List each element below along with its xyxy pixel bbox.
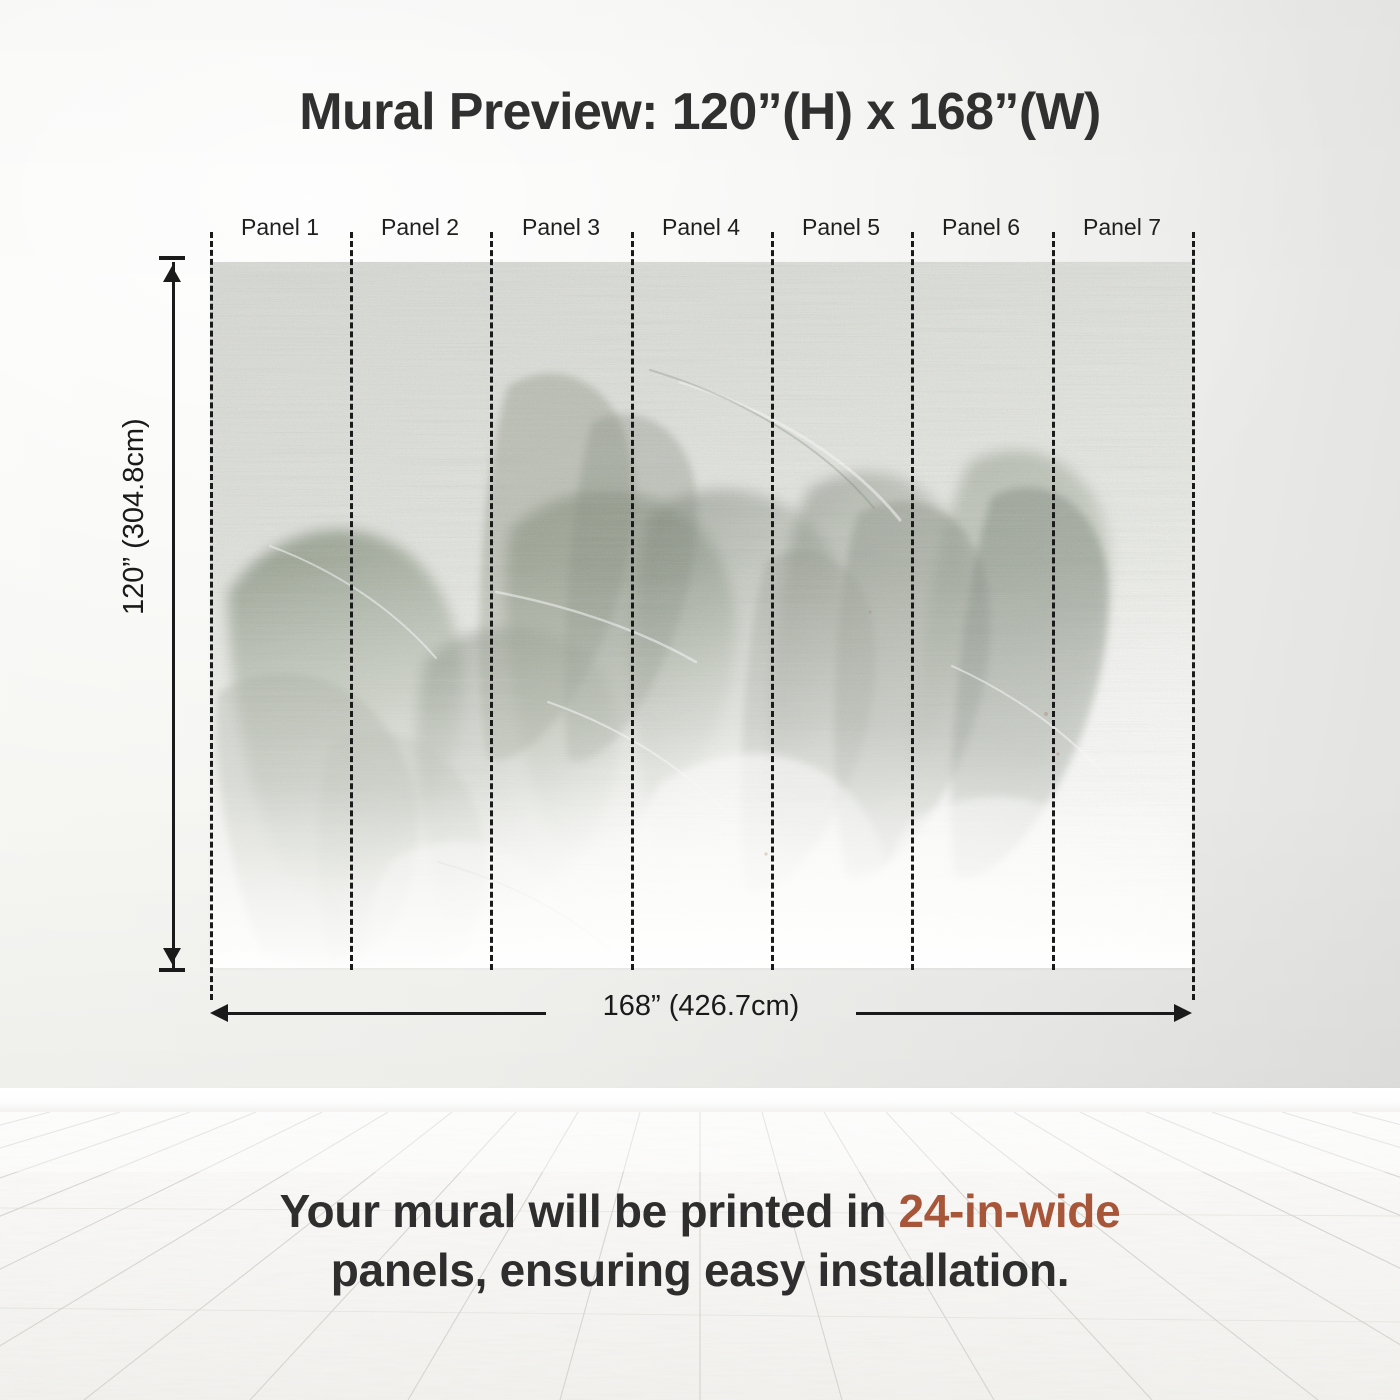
mural-artwork bbox=[210, 262, 1192, 968]
height-cap-bottom bbox=[159, 968, 185, 972]
caption-line-1: Your mural will be printed in 24-in-wide bbox=[0, 1182, 1400, 1241]
arrow-down-icon bbox=[163, 948, 181, 964]
mural-right-edge bbox=[1192, 232, 1195, 1000]
width-dimension-line-left bbox=[226, 1012, 546, 1015]
arrow-left-icon bbox=[210, 1004, 228, 1022]
baseboard bbox=[0, 1088, 1400, 1114]
width-dimension-line-right bbox=[856, 1012, 1176, 1015]
panel-label-2: Panel 2 bbox=[381, 214, 459, 241]
height-cap-top bbox=[159, 256, 185, 260]
arrow-right-icon bbox=[1174, 1004, 1192, 1022]
caption-line-2: panels, ensuring easy installation. bbox=[0, 1241, 1400, 1300]
height-dimension-line bbox=[172, 262, 175, 968]
caption-accent-text: 24-in-wide bbox=[898, 1185, 1120, 1237]
panel-label-6: Panel 6 bbox=[942, 214, 1020, 241]
panel-label-4: Panel 4 bbox=[662, 214, 740, 241]
panel-divider-5 bbox=[911, 232, 914, 970]
width-dimension-label: 168” (426.7cm) bbox=[587, 990, 816, 1023]
panel-divider-2 bbox=[490, 232, 493, 970]
panel-divider-6 bbox=[1052, 232, 1055, 970]
panel-divider-4 bbox=[771, 232, 774, 970]
arrow-up-icon bbox=[163, 266, 181, 282]
panel-divider-1 bbox=[350, 232, 353, 970]
panel-label-7: Panel 7 bbox=[1083, 214, 1161, 241]
mural-preview-image[interactable] bbox=[210, 262, 1192, 968]
caption: Your mural will be printed in 24-in-wide… bbox=[0, 1182, 1400, 1300]
mural-left-edge bbox=[210, 232, 213, 1000]
page-title: Mural Preview: 120”(H) x 168”(W) bbox=[0, 82, 1400, 142]
caption-text-before: Your mural will be printed in bbox=[280, 1185, 899, 1237]
panel-label-3: Panel 3 bbox=[522, 214, 600, 241]
panel-divider-3 bbox=[631, 232, 634, 970]
mural-preview-scene: Mural Preview: 120”(H) x 168”(W) bbox=[0, 0, 1400, 1400]
panel-label-1: Panel 1 bbox=[241, 214, 319, 241]
panel-label-5: Panel 5 bbox=[802, 214, 880, 241]
height-dimension-label: 120” (304.8cm) bbox=[118, 418, 151, 615]
